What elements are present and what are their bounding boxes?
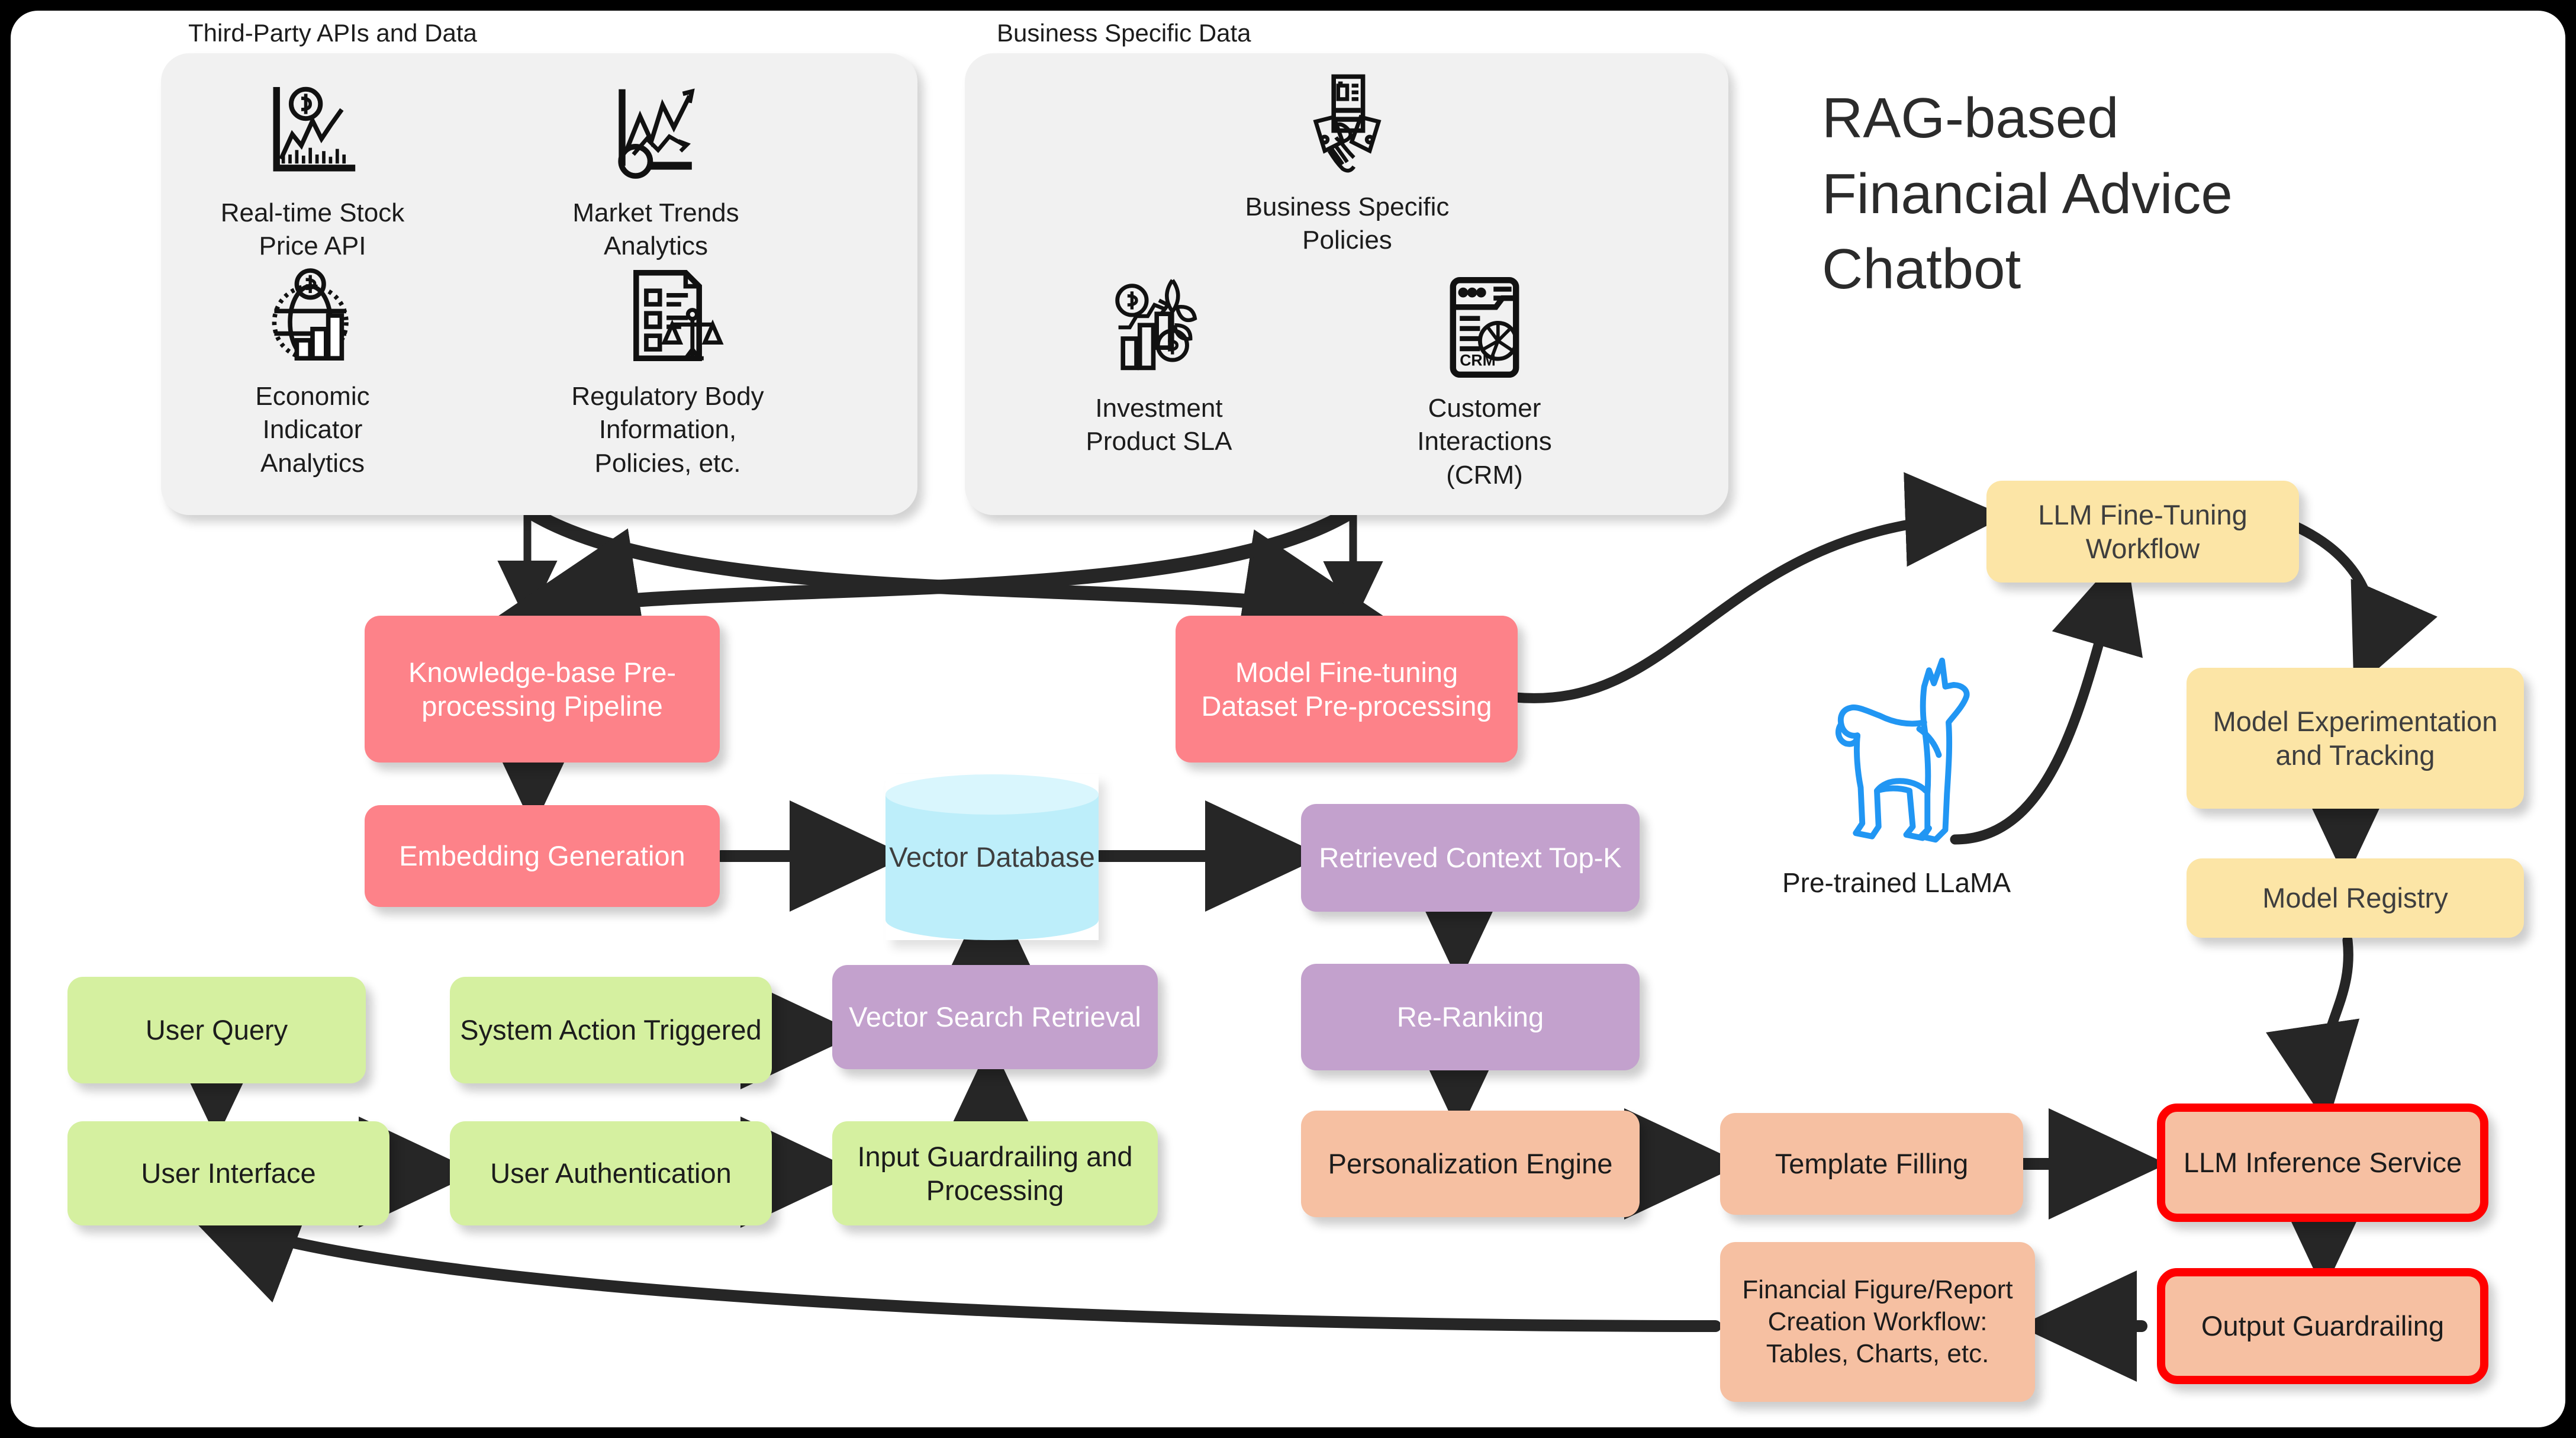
source-stock-api: Real-time StockPrice API bbox=[188, 76, 437, 263]
node-vector-search[interactable]: Vector Search Retrieval bbox=[832, 965, 1158, 1069]
node-input-guardrailing[interactable]: Input Guardrailing and Processing bbox=[832, 1121, 1158, 1225]
market-trends-magnifier-icon bbox=[600, 76, 712, 188]
source-crm: CRM CustomerInteractions(CRM) bbox=[1360, 271, 1609, 492]
node-vector-database-label: Vector Database bbox=[885, 774, 1099, 940]
edge-panel2-kb bbox=[532, 513, 1350, 611]
svg-text:CRM: CRM bbox=[1460, 352, 1496, 369]
crm-dashboard-icon: CRM bbox=[1428, 271, 1541, 384]
source-label: Market TrendsAnalytics bbox=[572, 197, 739, 263]
node-output-guardrailing[interactable]: Output Guardrailing bbox=[2157, 1268, 2488, 1384]
diagram-canvas: Third-Party APIs and Data Real-time Stoc… bbox=[11, 11, 2565, 1427]
node-template-filling[interactable]: Template Filling bbox=[1720, 1113, 2023, 1215]
edge-report-interface bbox=[208, 1218, 1715, 1326]
node-system-action[interactable]: System Action Triggered bbox=[450, 977, 772, 1083]
globe-bar-chart-dollar-icon bbox=[256, 259, 369, 372]
source-label: Regulatory BodyInformation,Policies, etc… bbox=[571, 380, 764, 480]
node-llm-finetuning-workflow[interactable]: LLM Fine-Tuning Workflow bbox=[1986, 481, 2299, 583]
edge-registry-inference bbox=[2322, 940, 2348, 1101]
source-label: Real-time StockPrice API bbox=[221, 197, 405, 263]
page-title-line1: RAG-based bbox=[1822, 81, 2443, 156]
source-label: EconomicIndicatorAnalytics bbox=[255, 380, 369, 480]
investment-growth-icon bbox=[1103, 271, 1215, 384]
page-title-line2: Financial Advice bbox=[1822, 156, 2443, 232]
llama-illustration: Pre-trained LLaMA bbox=[1778, 650, 2015, 899]
node-model-experimentation[interactable]: Model Experimentation and Tracking bbox=[2187, 668, 2524, 809]
page-title-line3: Chatbot bbox=[1822, 231, 2443, 307]
node-embedding-generation[interactable]: Embedding Generation bbox=[365, 805, 720, 907]
node-vector-database[interactable]: Vector Database bbox=[885, 774, 1099, 940]
node-reranking[interactable]: Re-Ranking bbox=[1301, 964, 1640, 1070]
source-business-policies: Business SpecificPolicies bbox=[1217, 70, 1477, 258]
node-user-authentication[interactable]: User Authentication bbox=[450, 1121, 772, 1225]
node-personalization-engine[interactable]: Personalization Engine bbox=[1301, 1111, 1640, 1217]
llama-caption: Pre-trained LLaMA bbox=[1782, 867, 2011, 899]
llama-icon bbox=[1799, 650, 1994, 863]
node-retrieved-context[interactable]: Retrieved Context Top-K bbox=[1301, 804, 1640, 912]
node-user-interface[interactable]: User Interface bbox=[67, 1121, 389, 1225]
stock-chart-dollar-icon bbox=[256, 76, 369, 188]
panel-title-third-party: Third-Party APIs and Data bbox=[188, 19, 477, 47]
edge-workflow-experimentation bbox=[2297, 527, 2372, 668]
source-investment-sla: InvestmentProduct SLA bbox=[1035, 271, 1283, 459]
handshake-contract-icon bbox=[1291, 70, 1403, 182]
node-finetune-dataset[interactable]: Model Fine-tuning Dataset Pre-processing bbox=[1176, 616, 1518, 763]
node-llm-inference-service[interactable]: LLM Inference Service bbox=[2157, 1104, 2488, 1222]
document-scales-icon bbox=[611, 259, 724, 372]
node-user-query[interactable]: User Query bbox=[67, 977, 366, 1083]
source-regulatory-body: Regulatory BodyInformation,Policies, etc… bbox=[532, 259, 804, 480]
source-market-trends: Market TrendsAnalytics bbox=[532, 76, 780, 263]
page-title: RAG-based Financial Advice Chatbot bbox=[1822, 81, 2443, 307]
source-label: InvestmentProduct SLA bbox=[1086, 392, 1232, 459]
node-financial-report[interactable]: Financial Figure/Report Creation Workflo… bbox=[1720, 1242, 2035, 1402]
source-economic-indicator: EconomicIndicatorAnalytics bbox=[188, 259, 437, 480]
edge-panel1-finetune bbox=[532, 513, 1351, 612]
node-kb-preprocessing[interactable]: Knowledge-base Pre-processing Pipeline bbox=[365, 616, 720, 763]
panel-title-business: Business Specific Data bbox=[997, 19, 1251, 47]
node-model-registry[interactable]: Model Registry bbox=[2187, 858, 2524, 938]
source-label: CustomerInteractions(CRM) bbox=[1417, 392, 1551, 492]
source-label: Business SpecificPolicies bbox=[1245, 191, 1450, 258]
diagram-frame: Third-Party APIs and Data Real-time Stoc… bbox=[0, 0, 2576, 1438]
